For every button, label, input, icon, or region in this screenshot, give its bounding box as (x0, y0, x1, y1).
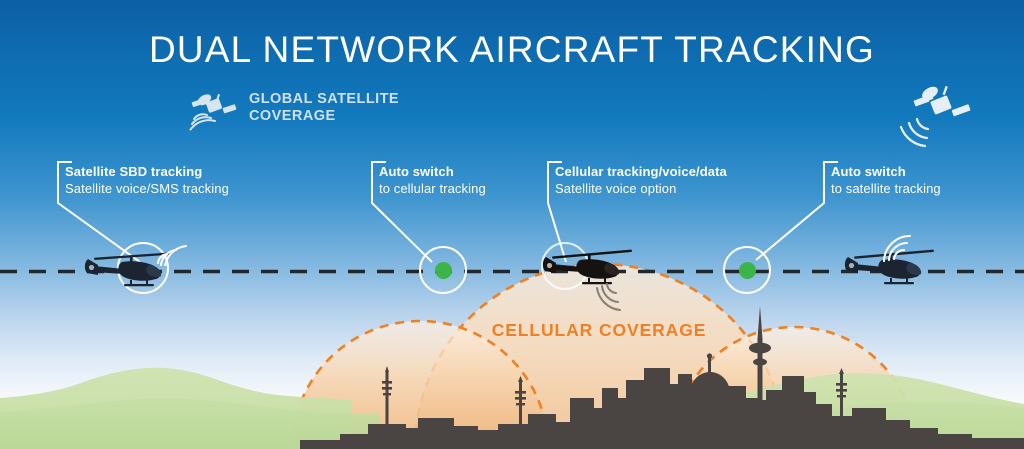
callout-auto-switch-satellite-line1: Auto switch (831, 163, 941, 180)
callout-auto-switch-cellular-line2: to cellular tracking (379, 180, 486, 197)
callout-cellular-tracking: Cellular tracking/voice/data Satellite v… (555, 163, 727, 198)
infographic-canvas: CELLULAR COVERAGE DUAL NETWORK AIRCRAFT … (0, 0, 1024, 449)
satellite-signal-waves-right (880, 228, 924, 262)
cellular-signal-waves-center (594, 280, 638, 312)
callout-satellite-sbd-line1: Satellite SBD tracking (65, 163, 229, 180)
callout-auto-switch-cellular: Auto switch to cellular tracking (379, 163, 486, 198)
callout-auto-switch-satellite-line2: to satellite tracking (831, 180, 941, 197)
callout-cellular-tracking-line2: Satellite voice option (555, 180, 727, 197)
callout-auto-switch-cellular-line1: Auto switch (379, 163, 486, 180)
switch-point-dot-right (739, 262, 756, 279)
callout-satellite-sbd-line2: Satellite voice/SMS tracking (65, 180, 229, 197)
switch-point-dot-left (435, 262, 452, 279)
satellite-signal-waves-left (152, 232, 194, 266)
callout-cellular-tracking-line1: Cellular tracking/voice/data (555, 163, 727, 180)
callout-auto-switch-satellite: Auto switch to satellite tracking (831, 163, 941, 198)
callout-leader-lines (0, 0, 1024, 449)
callout-satellite-sbd: Satellite SBD tracking Satellite voice/S… (65, 163, 229, 198)
